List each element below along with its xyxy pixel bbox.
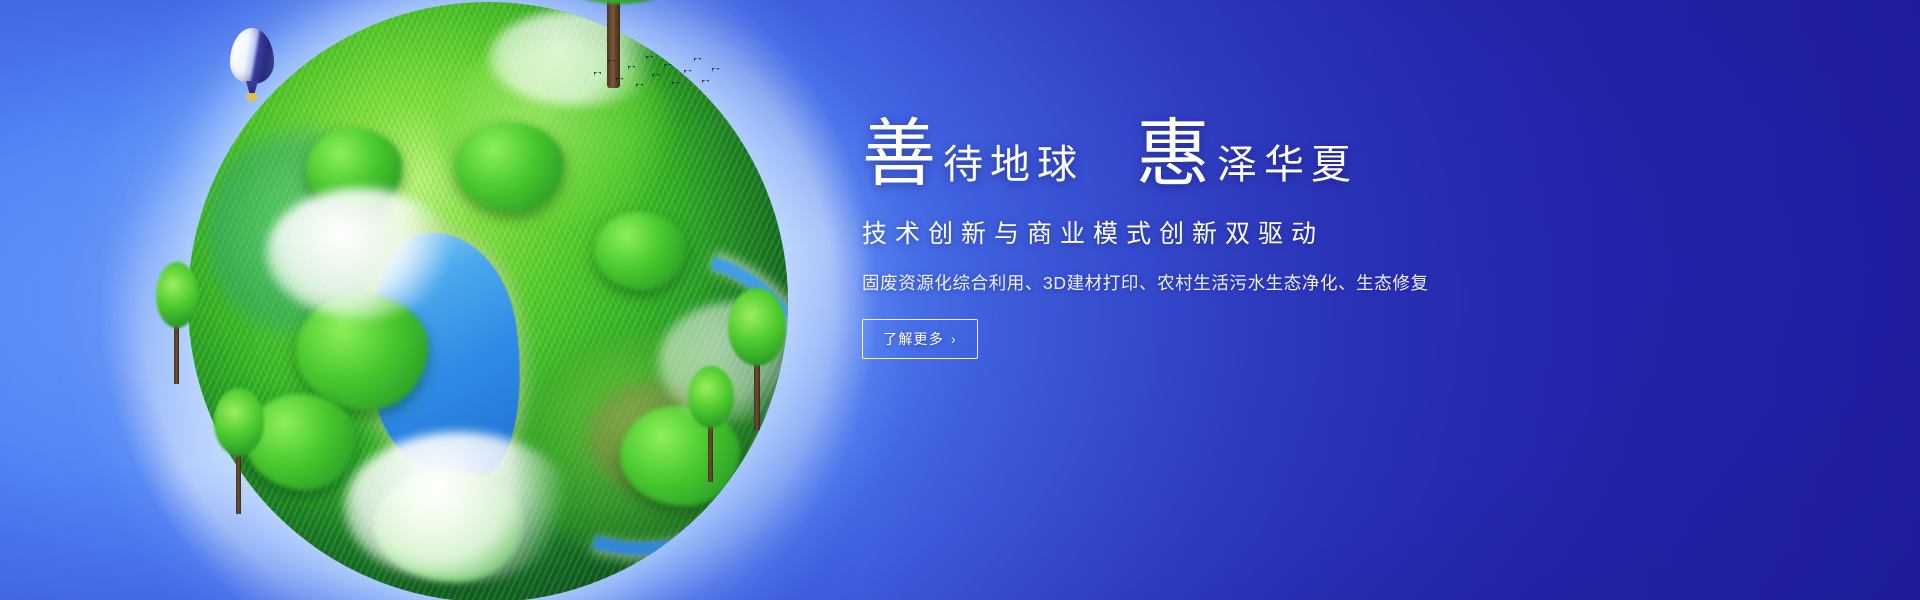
chevron-right-icon: ›	[951, 331, 957, 347]
headline-text-1: 待地球	[943, 145, 1084, 192]
learn-more-button[interactable]: 了解更多 ›	[862, 319, 978, 359]
hero-banner: 善 待地球 惠 泽华夏 技术创新与商业模式创新双驱动 固废资源化综合利用、3D建…	[0, 0, 1920, 600]
headline-text-2: 泽华夏	[1217, 145, 1358, 192]
headline-char-2: 惠	[1136, 118, 1211, 192]
subtitle: 技术创新与商业模式创新双驱动	[862, 214, 1762, 250]
description: 固废资源化综合利用、3D建材打印、农村生活污水生态净化、生态修复	[862, 270, 1762, 295]
headline-char-1: 善	[862, 118, 937, 192]
learn-more-label: 了解更多	[883, 329, 944, 349]
page-title: 善 待地球 惠 泽华夏	[862, 118, 1762, 192]
hero-content: 善 待地球 惠 泽华夏 技术创新与商业模式创新双驱动 固废资源化综合利用、3D建…	[862, 118, 1762, 359]
